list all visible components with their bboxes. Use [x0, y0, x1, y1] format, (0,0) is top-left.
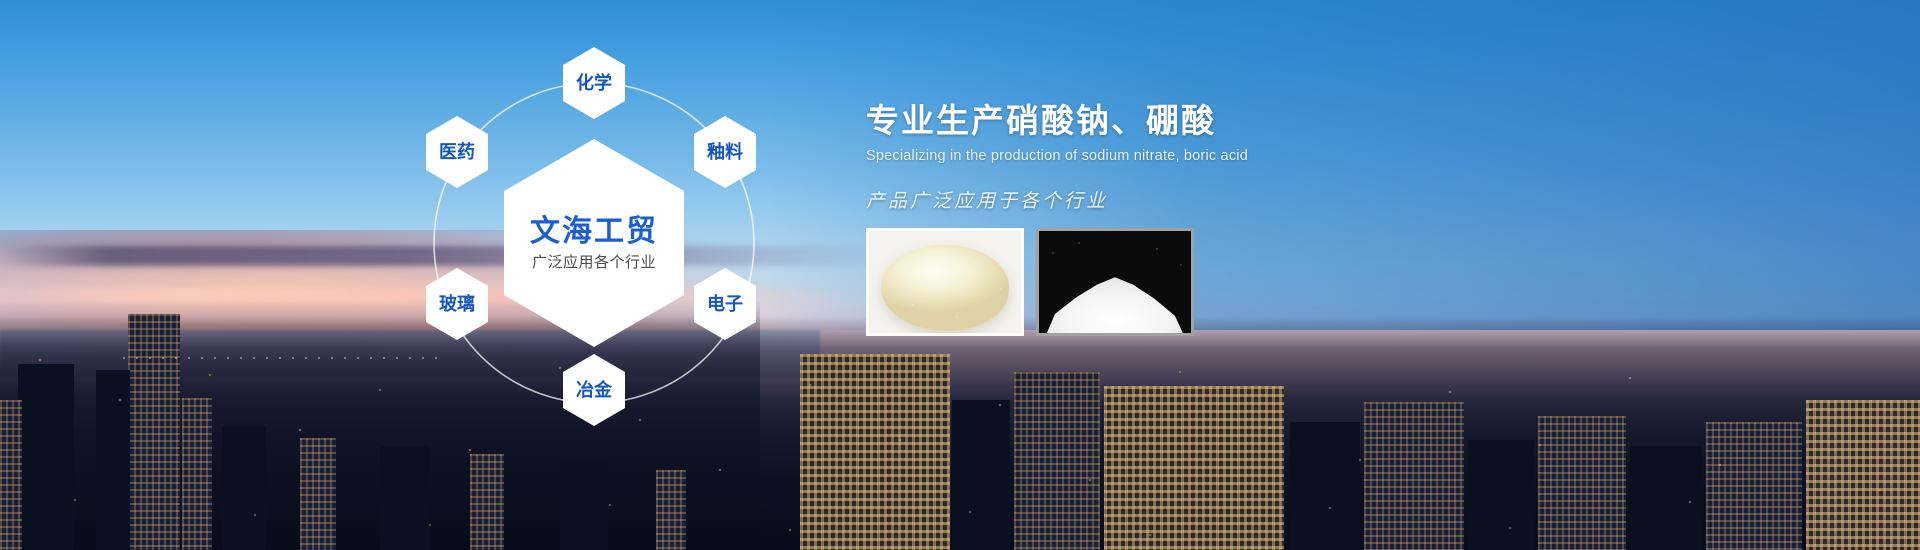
industry-hex-diagram: 文海工贸 广泛应用各个行业 化学 釉料 电子 冶金 玻璃 医药 [0, 0, 880, 550]
powder-speckle [1039, 231, 1191, 333]
hex-node-label: 化学 [576, 74, 612, 92]
hex-node-label: 釉料 [707, 143, 743, 161]
promo-banner: 文海工贸 广泛应用各个行业 化学 釉料 电子 冶金 玻璃 医药 专业生产硝酸钠、… [0, 0, 1920, 550]
hex-node-label: 玻璃 [439, 295, 475, 313]
headline-title: 专业生产硝酸钠、硼酸 [866, 100, 1566, 141]
powder-speckle [869, 231, 1021, 333]
product-photo-boric-acid [1036, 228, 1194, 336]
hex-node-label: 冶金 [576, 381, 612, 399]
headline-block: 专业生产硝酸钠、硼酸 Specializing in the productio… [866, 100, 1566, 213]
product-photo-group [866, 228, 1194, 336]
headline-tagline: 产品广泛应用于各个行业 [866, 186, 1566, 213]
company-tagline: 广泛应用各个行业 [532, 255, 656, 272]
headline-subtitle: Specializing in the production of sodium… [866, 148, 1566, 164]
company-name: 文海工贸 [530, 215, 658, 248]
connector-ring [0, 0, 880, 550]
product-photo-sodium-nitrate [866, 228, 1024, 336]
hex-node-label: 电子 [707, 295, 743, 313]
hex-node-label: 医药 [439, 143, 475, 161]
